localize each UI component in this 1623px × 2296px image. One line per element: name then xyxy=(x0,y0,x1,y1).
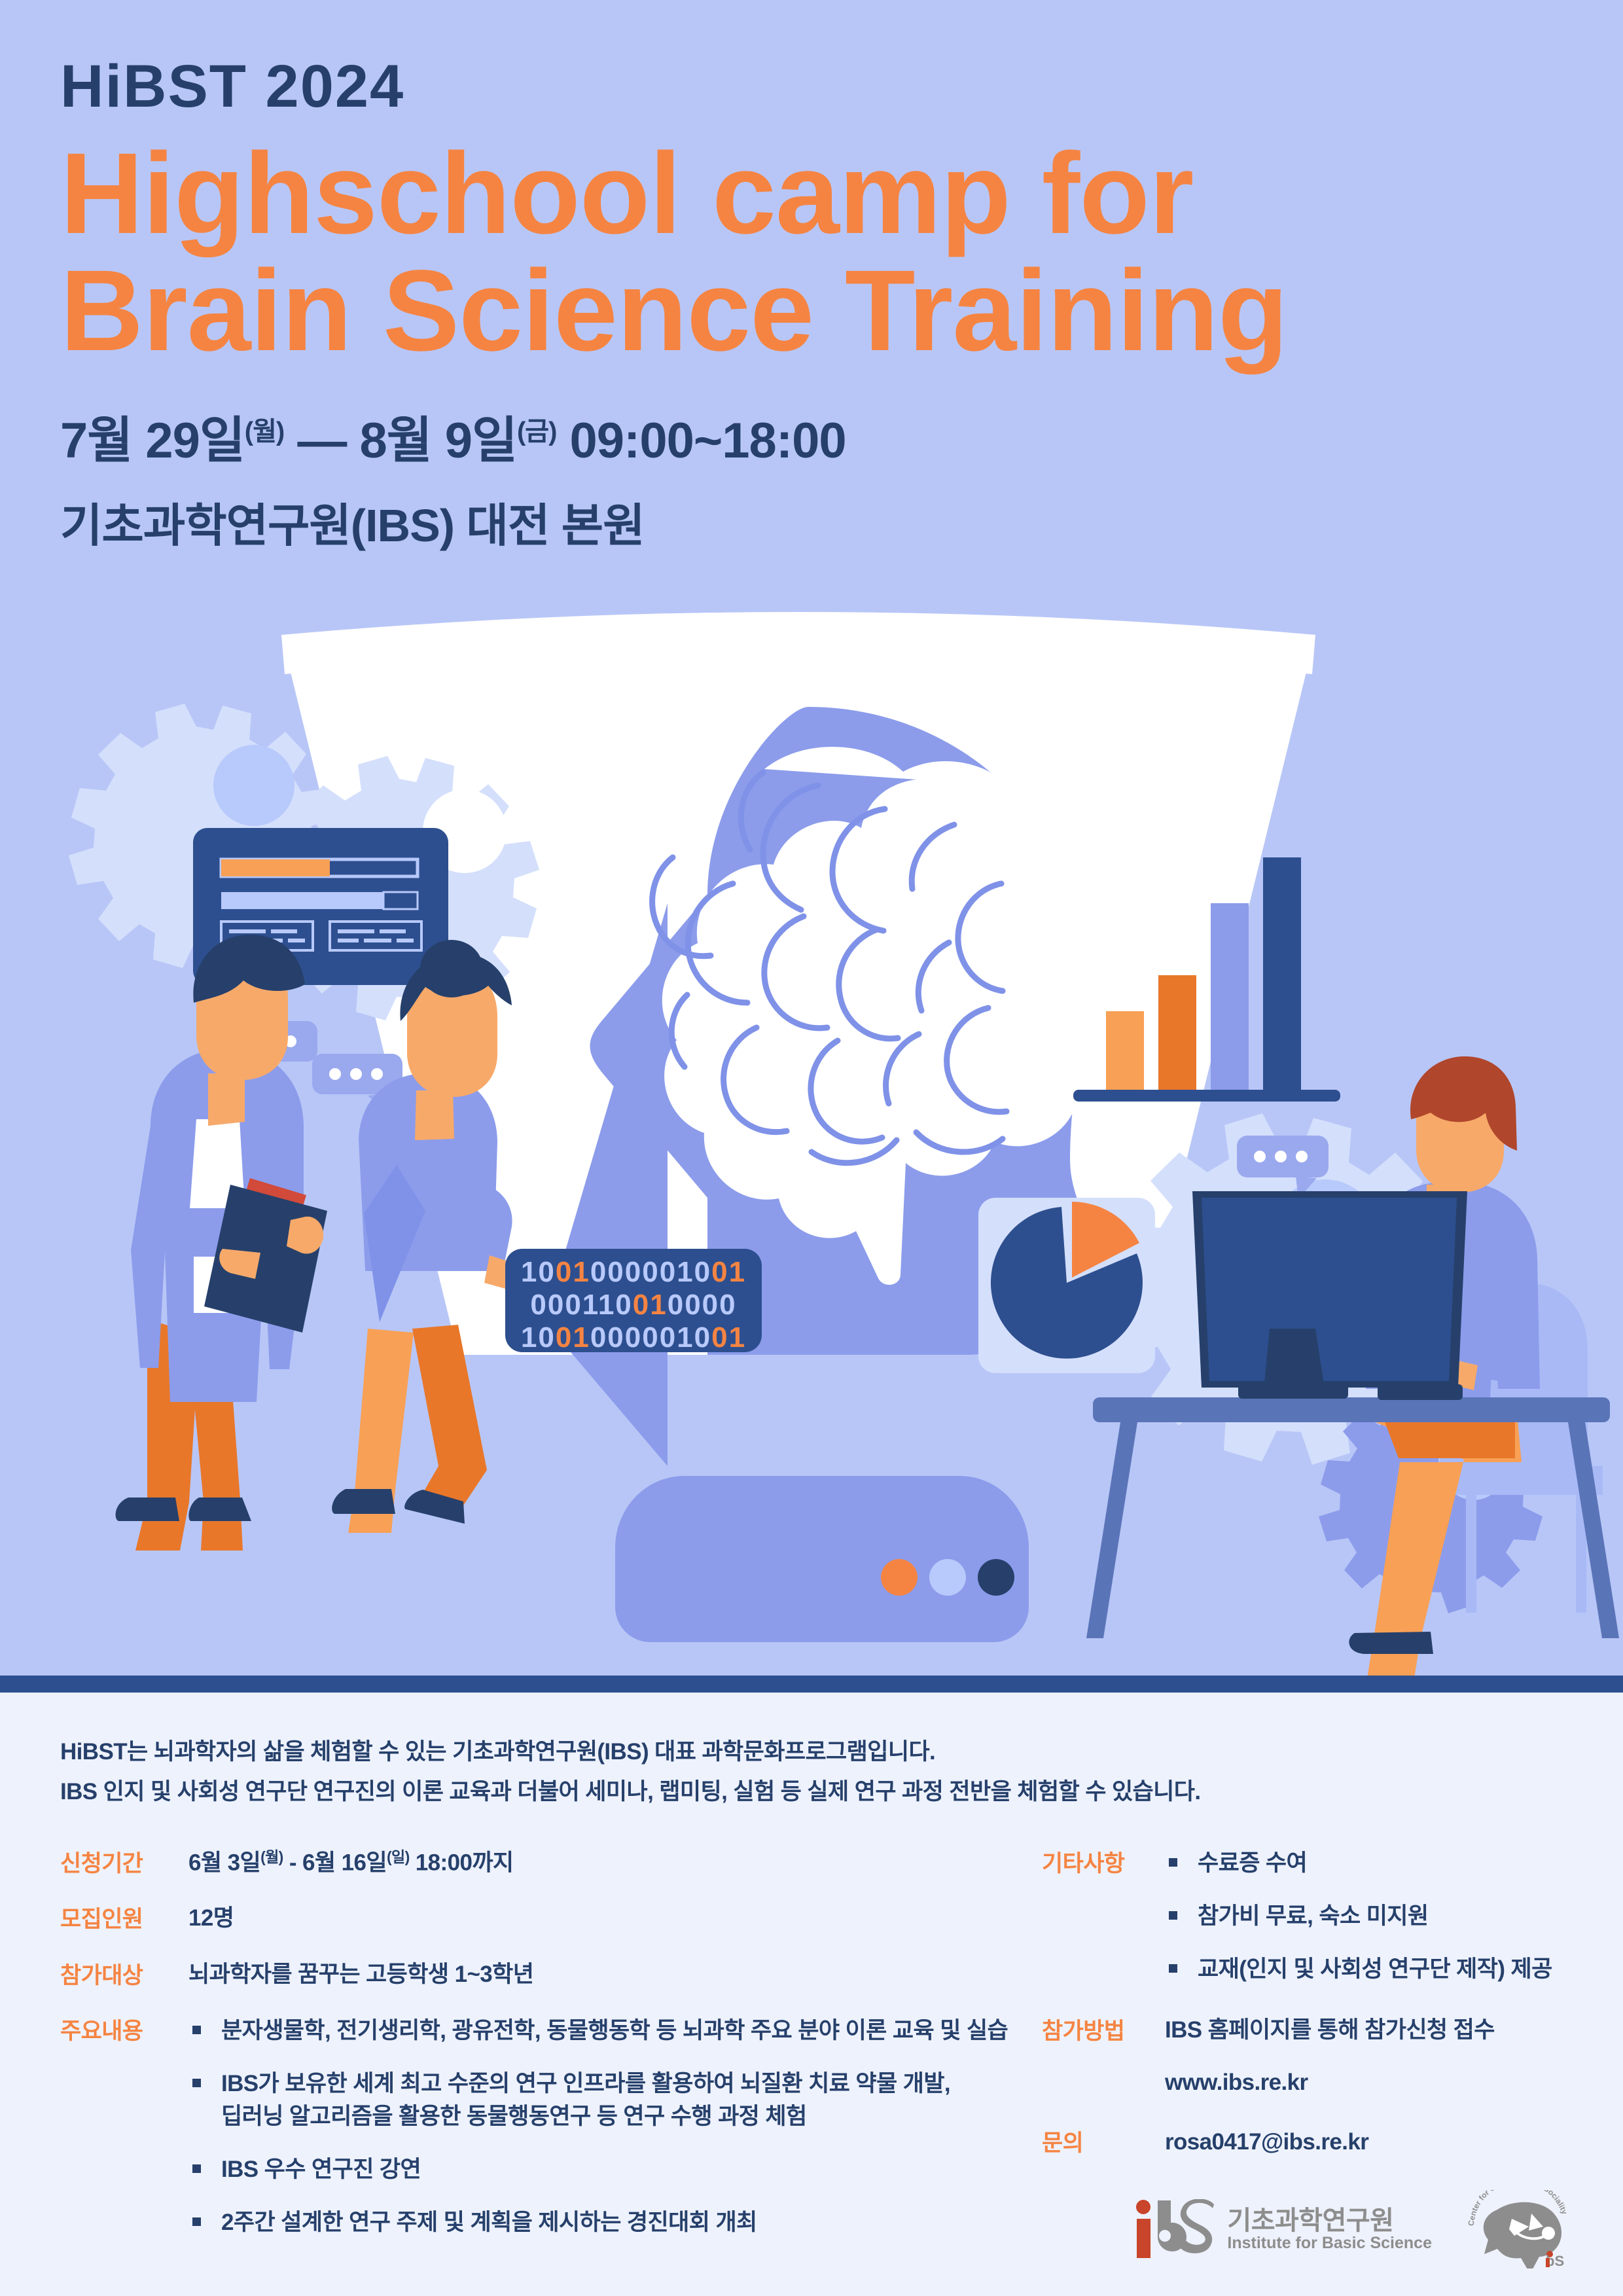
contact-email-link[interactable]: rosa0417@ibs.re.kr xyxy=(1165,2126,1368,2159)
detail-row-audience: 참가대상 뇌과학자를 꿈꾸는 고등학생 1~3학년 xyxy=(60,1959,1042,1991)
label-audience: 참가대상 xyxy=(60,1959,188,1991)
ibs-name-en: Institute for Basic Science xyxy=(1227,2234,1432,2252)
list-item-text: 2주간 설계한 연구 주제 및 계획을 제시하는 경진대회 개최 xyxy=(221,2210,757,2235)
date-start-day: (월) xyxy=(245,417,284,446)
ibs-name-kr: 기초과학연구원 xyxy=(1227,2206,1393,2235)
apply-end-day: (일) xyxy=(387,1848,410,1865)
svg-text:000110010000: 000110010000 xyxy=(530,1289,736,1321)
desk-top xyxy=(1093,1397,1610,1422)
bar-1 xyxy=(1106,1011,1144,1090)
carousel-dot-active xyxy=(881,1559,918,1596)
list-item: IBS가 보유한 세계 최고 수준의 연구 인프라를 활용하여 뇌질환 치료 약… xyxy=(188,2068,1008,2134)
list-item-text: IBS 우수 연구진 강연 xyxy=(221,2157,421,2182)
contents-list: 분자생물학, 전기생리학, 광유전학, 동물행동학 등 뇌과학 주요 분야 이론… xyxy=(188,2015,1008,2240)
figure-scientist-clipboard xyxy=(116,935,327,1551)
pie-chart-card xyxy=(978,1198,1155,1373)
date-end: 8월 9일 xyxy=(359,413,517,469)
page-title: Highschool camp for Brain Science Traini… xyxy=(60,135,1565,370)
event-datetime: 7월 29일(월) — 8월 9일(금) 09:00~18:00 xyxy=(60,410,1565,472)
list-item: 2주간 설계한 연구 주제 및 계획을 제시하는 경진대회 개최 xyxy=(188,2206,1008,2240)
ibs-website-link[interactable]: www.ibs.re.kr xyxy=(1165,2067,1495,2098)
apply-end: 18:00까지 xyxy=(410,1850,514,1876)
ccs-logo: bS Center for Cognition and Sociality xyxy=(1463,2190,1575,2269)
ibs-mark-icon xyxy=(1133,2199,1217,2259)
lead-line-1: HiBST는 뇌과학자의 삶을 체험할 수 있는 기초과학연구원(IBS) 대표… xyxy=(60,1732,1565,1772)
date-end-day: (금) xyxy=(517,417,556,446)
value-audience: 뇌과학자를 꿈꾸는 고등학생 1~3학년 xyxy=(188,1959,533,1991)
list-item: 참가비 무료, 숙소 미지원 xyxy=(1165,1900,1552,1933)
ibs-logo-text: 기초과학연구원 Institute for Basic Science xyxy=(1227,2207,1432,2251)
how-to-apply-text: IBS 홈페이지를 통해 참가신청 접수 xyxy=(1165,2017,1495,2043)
info-band: HiBST는 뇌과학자의 삶을 체험할 수 있는 기초과학연구원(IBS) 대표… xyxy=(0,1693,1623,2296)
other-list: 수료증 수여 참가비 무료, 숙소 미지원 교재(인지 및 사회성 연구단 제작… xyxy=(1165,1847,1552,1986)
date-dash: — xyxy=(284,413,359,469)
label-contact: 문의 xyxy=(1042,2126,1165,2159)
section-divider xyxy=(0,1676,1623,1693)
pedestal xyxy=(615,1476,1029,1642)
progress-bar-fill xyxy=(221,859,330,876)
details-right-column: 기타사항 수료증 수여 참가비 무료, 숙소 미지원 교재(인지 및 사회성 연… xyxy=(1042,1847,1559,2240)
apply-start-day: (월) xyxy=(260,1848,283,1865)
illustration: 1001000001001 000110010000 1001000001001 xyxy=(0,576,1623,1685)
label-apply-period: 신청기간 xyxy=(60,1847,188,1879)
bar-chart-baseline xyxy=(1073,1090,1340,1102)
value-apply-period: 6월 3일(월) - 6월 16일(일) 18:00까지 xyxy=(188,1847,514,1879)
event-venue: 기초과학연구원(IBS) 대전 본원 xyxy=(60,489,1565,555)
details-columns: 신청기간 6월 3일(월) - 6월 16일(일) 18:00까지 모집인원 1… xyxy=(60,1847,1565,2240)
value-capacity: 12명 xyxy=(188,1903,234,1935)
hero-text-block: HiBST 2024 Highschool camp for Brain Sci… xyxy=(60,55,1565,555)
apply-mid: - 6월 16일 xyxy=(283,1850,387,1876)
detail-row-contact: 문의 rosa0417@ibs.re.kr xyxy=(1042,2126,1559,2159)
hero-band: 1001000001001 000110010000 1001000001001… xyxy=(0,0,1623,1685)
eyebrow-title: HiBST 2024 xyxy=(60,55,1565,118)
carousel-dot xyxy=(978,1559,1014,1596)
hair-bun xyxy=(420,940,483,997)
title-line-2: Brain Science Training xyxy=(60,253,1565,370)
bar-3 xyxy=(1211,903,1249,1090)
binary-panel-group: 1001000001001 000110010000 1001000001001 xyxy=(505,1249,762,1354)
detail-row-other: 기타사항 수료증 수여 참가비 무료, 숙소 미지원 교재(인지 및 사회성 연… xyxy=(1042,1847,1559,1986)
list-item-text: 분자생물학, 전기생리학, 광유전학, 동물행동학 등 뇌과학 주요 분야 이론… xyxy=(221,2018,1008,2043)
svg-text:1001000001001: 1001000001001 xyxy=(521,1321,746,1354)
carousel-dot xyxy=(929,1559,966,1596)
date-start: 7월 29일 xyxy=(60,413,245,469)
detail-row-capacity: 모집인원 12명 xyxy=(60,1903,1042,1935)
title-line-1: Highschool camp for xyxy=(60,130,1193,258)
detail-row-contents: 주요내용 분자생물학, 전기생리학, 광유전학, 동물행동학 등 뇌과학 주요 … xyxy=(60,2015,1042,2240)
event-time: 09:00~18:00 xyxy=(556,413,846,469)
list-item: 분자생물학, 전기생리학, 광유전학, 동물행동학 등 뇌과학 주요 분야 이론… xyxy=(188,2015,1008,2048)
lead-paragraph: HiBST는 뇌과학자의 삶을 체험할 수 있는 기초과학연구원(IBS) 대표… xyxy=(60,1732,1565,1812)
label-how-to-apply: 참가방법 xyxy=(1042,2015,1165,2098)
label-other: 기타사항 xyxy=(1042,1847,1165,1986)
label-contents: 주요내용 xyxy=(60,2015,188,2240)
ibs-logo: 기초과학연구원 Institute for Basic Science xyxy=(1133,2199,1432,2259)
list-item-text: IBS가 보유한 세계 최고 수준의 연구 인프라를 활용하여 뇌질환 치료 약… xyxy=(221,2071,950,2096)
label-capacity: 모집인원 xyxy=(60,1903,188,1935)
bar-4 xyxy=(1263,857,1301,1090)
carousel-dots xyxy=(881,1559,1014,1596)
list-item: IBS 우수 연구진 강연 xyxy=(188,2153,1008,2187)
bar-2 xyxy=(1158,975,1196,1090)
footer-logos: 기초과학연구원 Institute for Basic Science bS xyxy=(1133,2190,1575,2269)
lead-line-2: IBS 인지 및 사회성 연구단 연구진의 이론 교육과 더불어 세미나, 랩미… xyxy=(60,1772,1565,1812)
apply-start: 6월 3일 xyxy=(188,1850,260,1876)
detail-row-how-to-apply: 참가방법 IBS 홈페이지를 통해 참가신청 접수 www.ibs.re.kr xyxy=(1042,2015,1559,2098)
list-item-continuation: 딥러닝 알고리즘을 활용한 동물행동연구 등 연구 수행 과정 체험 xyxy=(221,2100,1008,2134)
details-left-column: 신청기간 6월 3일(월) - 6월 16일(일) 18:00까지 모집인원 1… xyxy=(60,1847,1042,2240)
list-item: 수료증 수여 xyxy=(1165,1847,1552,1880)
detail-row-apply-period: 신청기간 6월 3일(월) - 6월 16일(일) 18:00까지 xyxy=(60,1847,1042,1879)
value-how-to-apply: IBS 홈페이지를 통해 참가신청 접수 www.ibs.re.kr xyxy=(1165,2015,1495,2098)
poster-root: 1001000001001 000110010000 1001000001001… xyxy=(0,0,1623,2296)
svg-text:1001000001001: 1001000001001 xyxy=(521,1256,746,1288)
list-item: 교재(인지 및 사회성 연구단 제작) 제공 xyxy=(1165,1953,1552,1986)
keyboard xyxy=(1378,1384,1463,1400)
